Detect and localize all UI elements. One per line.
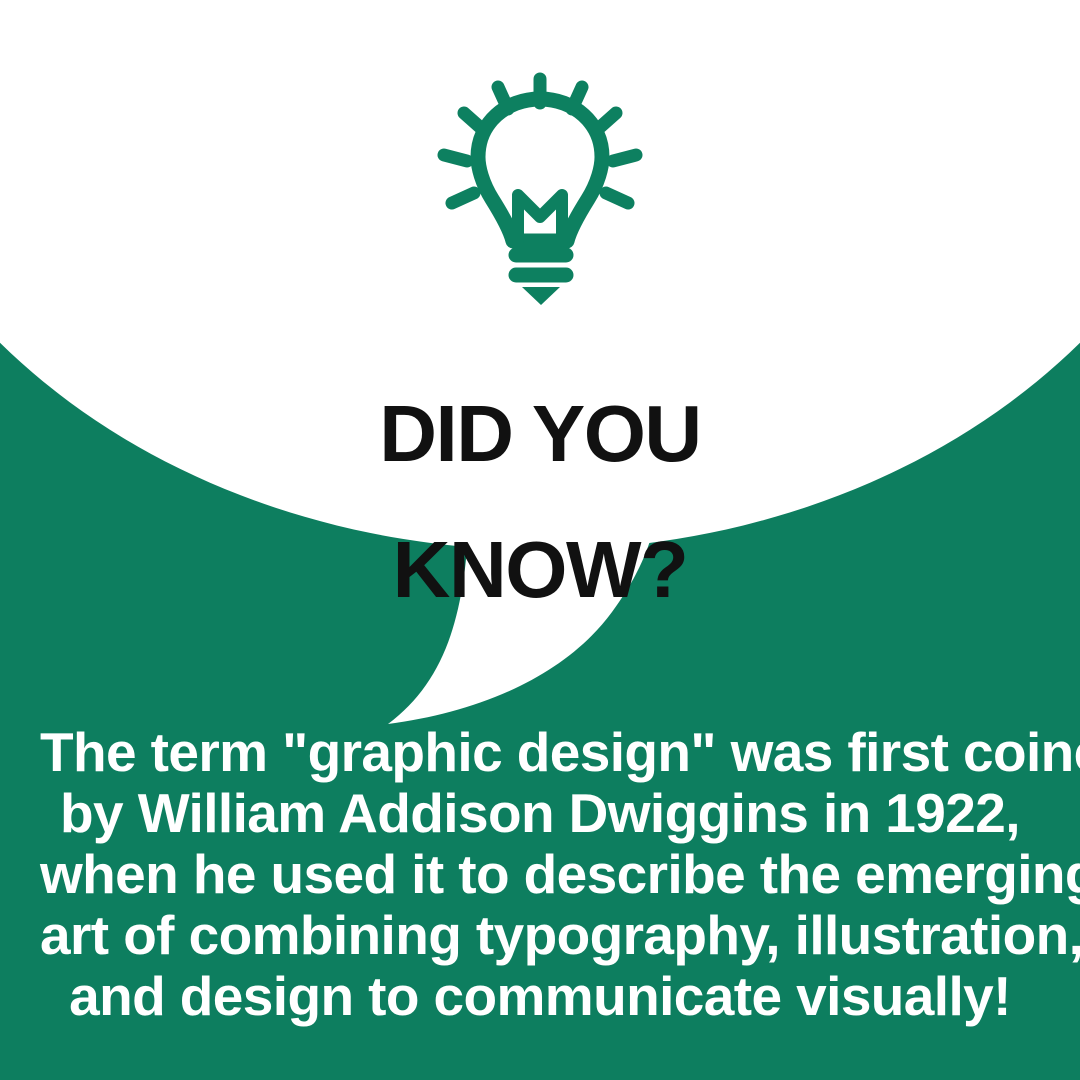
page-title-line-2: KNOW? (0, 536, 1080, 604)
page-title: DID YOU KNOW? (0, 332, 1080, 672)
lightbulb-base-tip-icon (522, 287, 560, 305)
lightbulb-icon (420, 71, 660, 311)
fact-line: The term "graphic design" was first coin… (40, 722, 1040, 783)
did-you-know-poster: DID YOU KNOW? The term "graphic design" … (0, 0, 1080, 1080)
fact-line: art of combining typography, illustratio… (40, 905, 1040, 966)
fact-line: when he used it to describe the emerging (40, 844, 1040, 905)
fact-body-text: The term "graphic design" was first coin… (40, 722, 1040, 1027)
fact-line: by William Addison Dwiggins in 1922, (40, 783, 1040, 844)
fact-line: and design to communicate visually! (40, 966, 1040, 1027)
lightbulb-icon-container (0, 60, 1080, 322)
page-title-line-1: DID YOU (0, 400, 1080, 468)
